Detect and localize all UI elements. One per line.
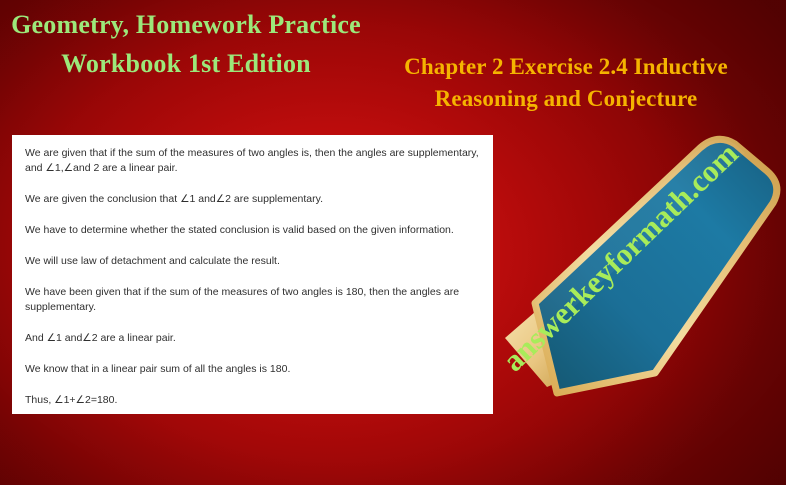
solution-paragraph: We are given that if the sum of the meas… <box>25 146 480 176</box>
solution-content-card: We are given that if the sum of the meas… <box>12 135 493 414</box>
watermark-banner: answerkeyformath.com <box>495 125 786 425</box>
book-title-line-2: Workbook 1st Edition <box>6 47 366 80</box>
ribbon-body <box>535 139 777 393</box>
book-title: Geometry, Homework Practice Workbook 1st… <box>6 8 366 80</box>
solution-paragraph: And ∠1 and∠2 are a linear pair. <box>25 331 480 346</box>
slide-canvas: Geometry, Homework Practice Workbook 1st… <box>0 0 786 485</box>
solution-paragraph: We will use law of detachment and calcul… <box>25 254 480 269</box>
solution-paragraph: We know that in a linear pair sum of all… <box>25 362 480 377</box>
solution-paragraph: We have to determine whether the stated … <box>25 223 480 238</box>
book-title-line-1: Geometry, Homework Practice <box>6 8 366 41</box>
solution-paragraph: We have been given that if the sum of th… <box>25 285 480 315</box>
solution-paragraph: We are given the conclusion that ∠1 and∠… <box>25 192 480 207</box>
watermark-text: answerkeyformath.com <box>496 136 745 378</box>
ribbon-fold-tab <box>505 305 575 387</box>
chapter-heading-line-1: Chapter 2 Exercise 2.4 Inductive <box>352 52 780 81</box>
chapter-heading: Chapter 2 Exercise 2.4 Inductive Reasoni… <box>352 52 780 113</box>
solution-paragraph: Thus, ∠1+∠2=180. <box>25 393 480 408</box>
ribbon-highlight <box>535 139 745 331</box>
chapter-heading-line-2: Reasoning and Conjecture <box>352 84 780 113</box>
